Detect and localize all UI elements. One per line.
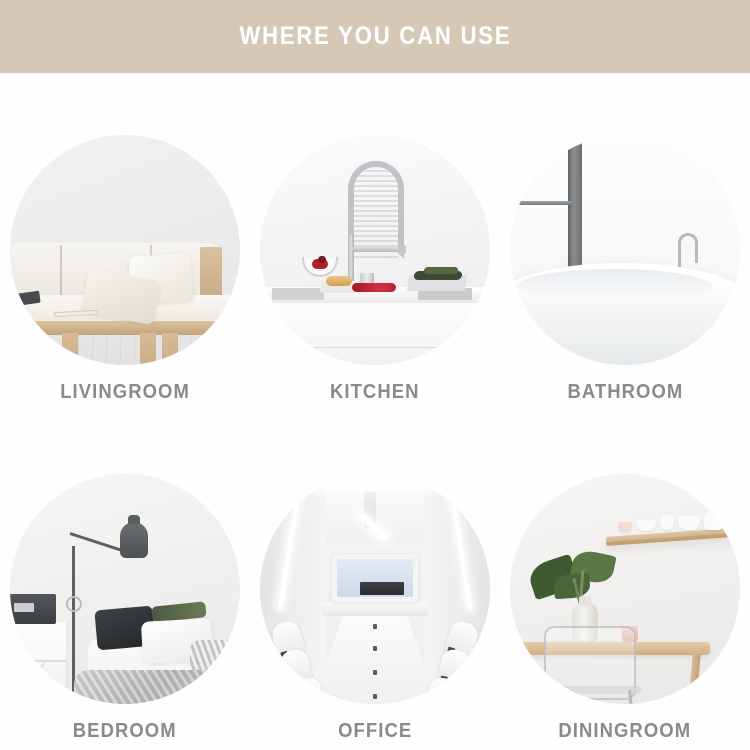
wall-display	[332, 554, 418, 602]
room-photo-bathroom	[510, 135, 740, 365]
greens-on-tray	[424, 267, 459, 274]
floor-lamp-shade	[120, 522, 148, 558]
towel-bar	[510, 201, 572, 205]
diningroom-scene	[510, 474, 740, 704]
ceramic-vessel	[618, 522, 632, 532]
page-title: WHERE YOU CAN USE	[239, 22, 511, 51]
base-cabinet	[260, 303, 490, 365]
bathroom-scene	[510, 135, 740, 365]
room-photo-bedroom	[10, 474, 240, 704]
room-photo-kitchen	[260, 135, 490, 365]
transparent-chair-seat	[538, 686, 642, 694]
led-strip-ceiling	[314, 484, 436, 488]
room-card-bedroom[interactable]: BEDROOM	[0, 412, 250, 750]
room-photo-livingroom	[10, 135, 240, 365]
office-scene	[260, 474, 490, 704]
lamp-ring-detail	[66, 596, 82, 612]
bathtub-faucet	[678, 233, 698, 263]
header-banner: WHERE YOU CAN USE	[0, 0, 750, 73]
red-fruit-spread	[352, 283, 396, 292]
sofa-leg	[162, 333, 178, 365]
sofa-leg	[62, 333, 78, 365]
room-card-diningroom[interactable]: DININGROOM	[500, 412, 750, 750]
faucet-spout	[352, 247, 404, 252]
display-content	[360, 582, 404, 595]
credenza	[322, 602, 428, 616]
sink-basin-left	[272, 288, 324, 300]
dark-storage-box	[10, 594, 56, 624]
room-label-bedroom: BEDROOM	[73, 719, 177, 743]
room-photo-diningroom	[510, 474, 740, 704]
room-card-kitchen[interactable]: KITCHEN	[250, 73, 500, 412]
spring-faucet-coil	[348, 161, 404, 259]
room-label-bathroom: BATHROOM	[567, 380, 683, 404]
room-label-livingroom: LIVINGROOM	[60, 380, 190, 404]
room-card-bathroom[interactable]: BATHROOM	[500, 73, 750, 412]
room-photo-office	[260, 474, 490, 704]
ceramic-vessel	[660, 514, 674, 530]
room-label-kitchen: KITCHEN	[330, 380, 420, 404]
room-card-office[interactable]: OFFICE	[250, 412, 500, 750]
livingroom-scene	[10, 135, 240, 365]
dark-partition-panel	[568, 135, 582, 275]
room-label-office: OFFICE	[338, 719, 412, 743]
red-berries	[318, 256, 326, 263]
sofa-leg	[140, 333, 156, 365]
ceramic-vessel	[704, 510, 722, 530]
sofa-wooden-frame	[10, 321, 240, 335]
room-label-diningroom: DININGROOM	[559, 719, 692, 743]
infographic-page: WHERE YOU CAN USE	[0, 0, 750, 750]
gray-blanket	[74, 670, 240, 704]
faucet-neck	[348, 235, 354, 281]
pastry	[326, 276, 352, 286]
bathtub-interior	[516, 269, 712, 299]
room-card-livingroom[interactable]: LIVINGROOM	[0, 73, 250, 412]
kitchen-scene	[260, 135, 490, 365]
ceramic-vessel	[678, 516, 700, 530]
bedroom-scene	[10, 474, 240, 704]
room-grid: LIVINGROOM	[0, 73, 750, 750]
ceramic-vessel	[636, 520, 656, 531]
